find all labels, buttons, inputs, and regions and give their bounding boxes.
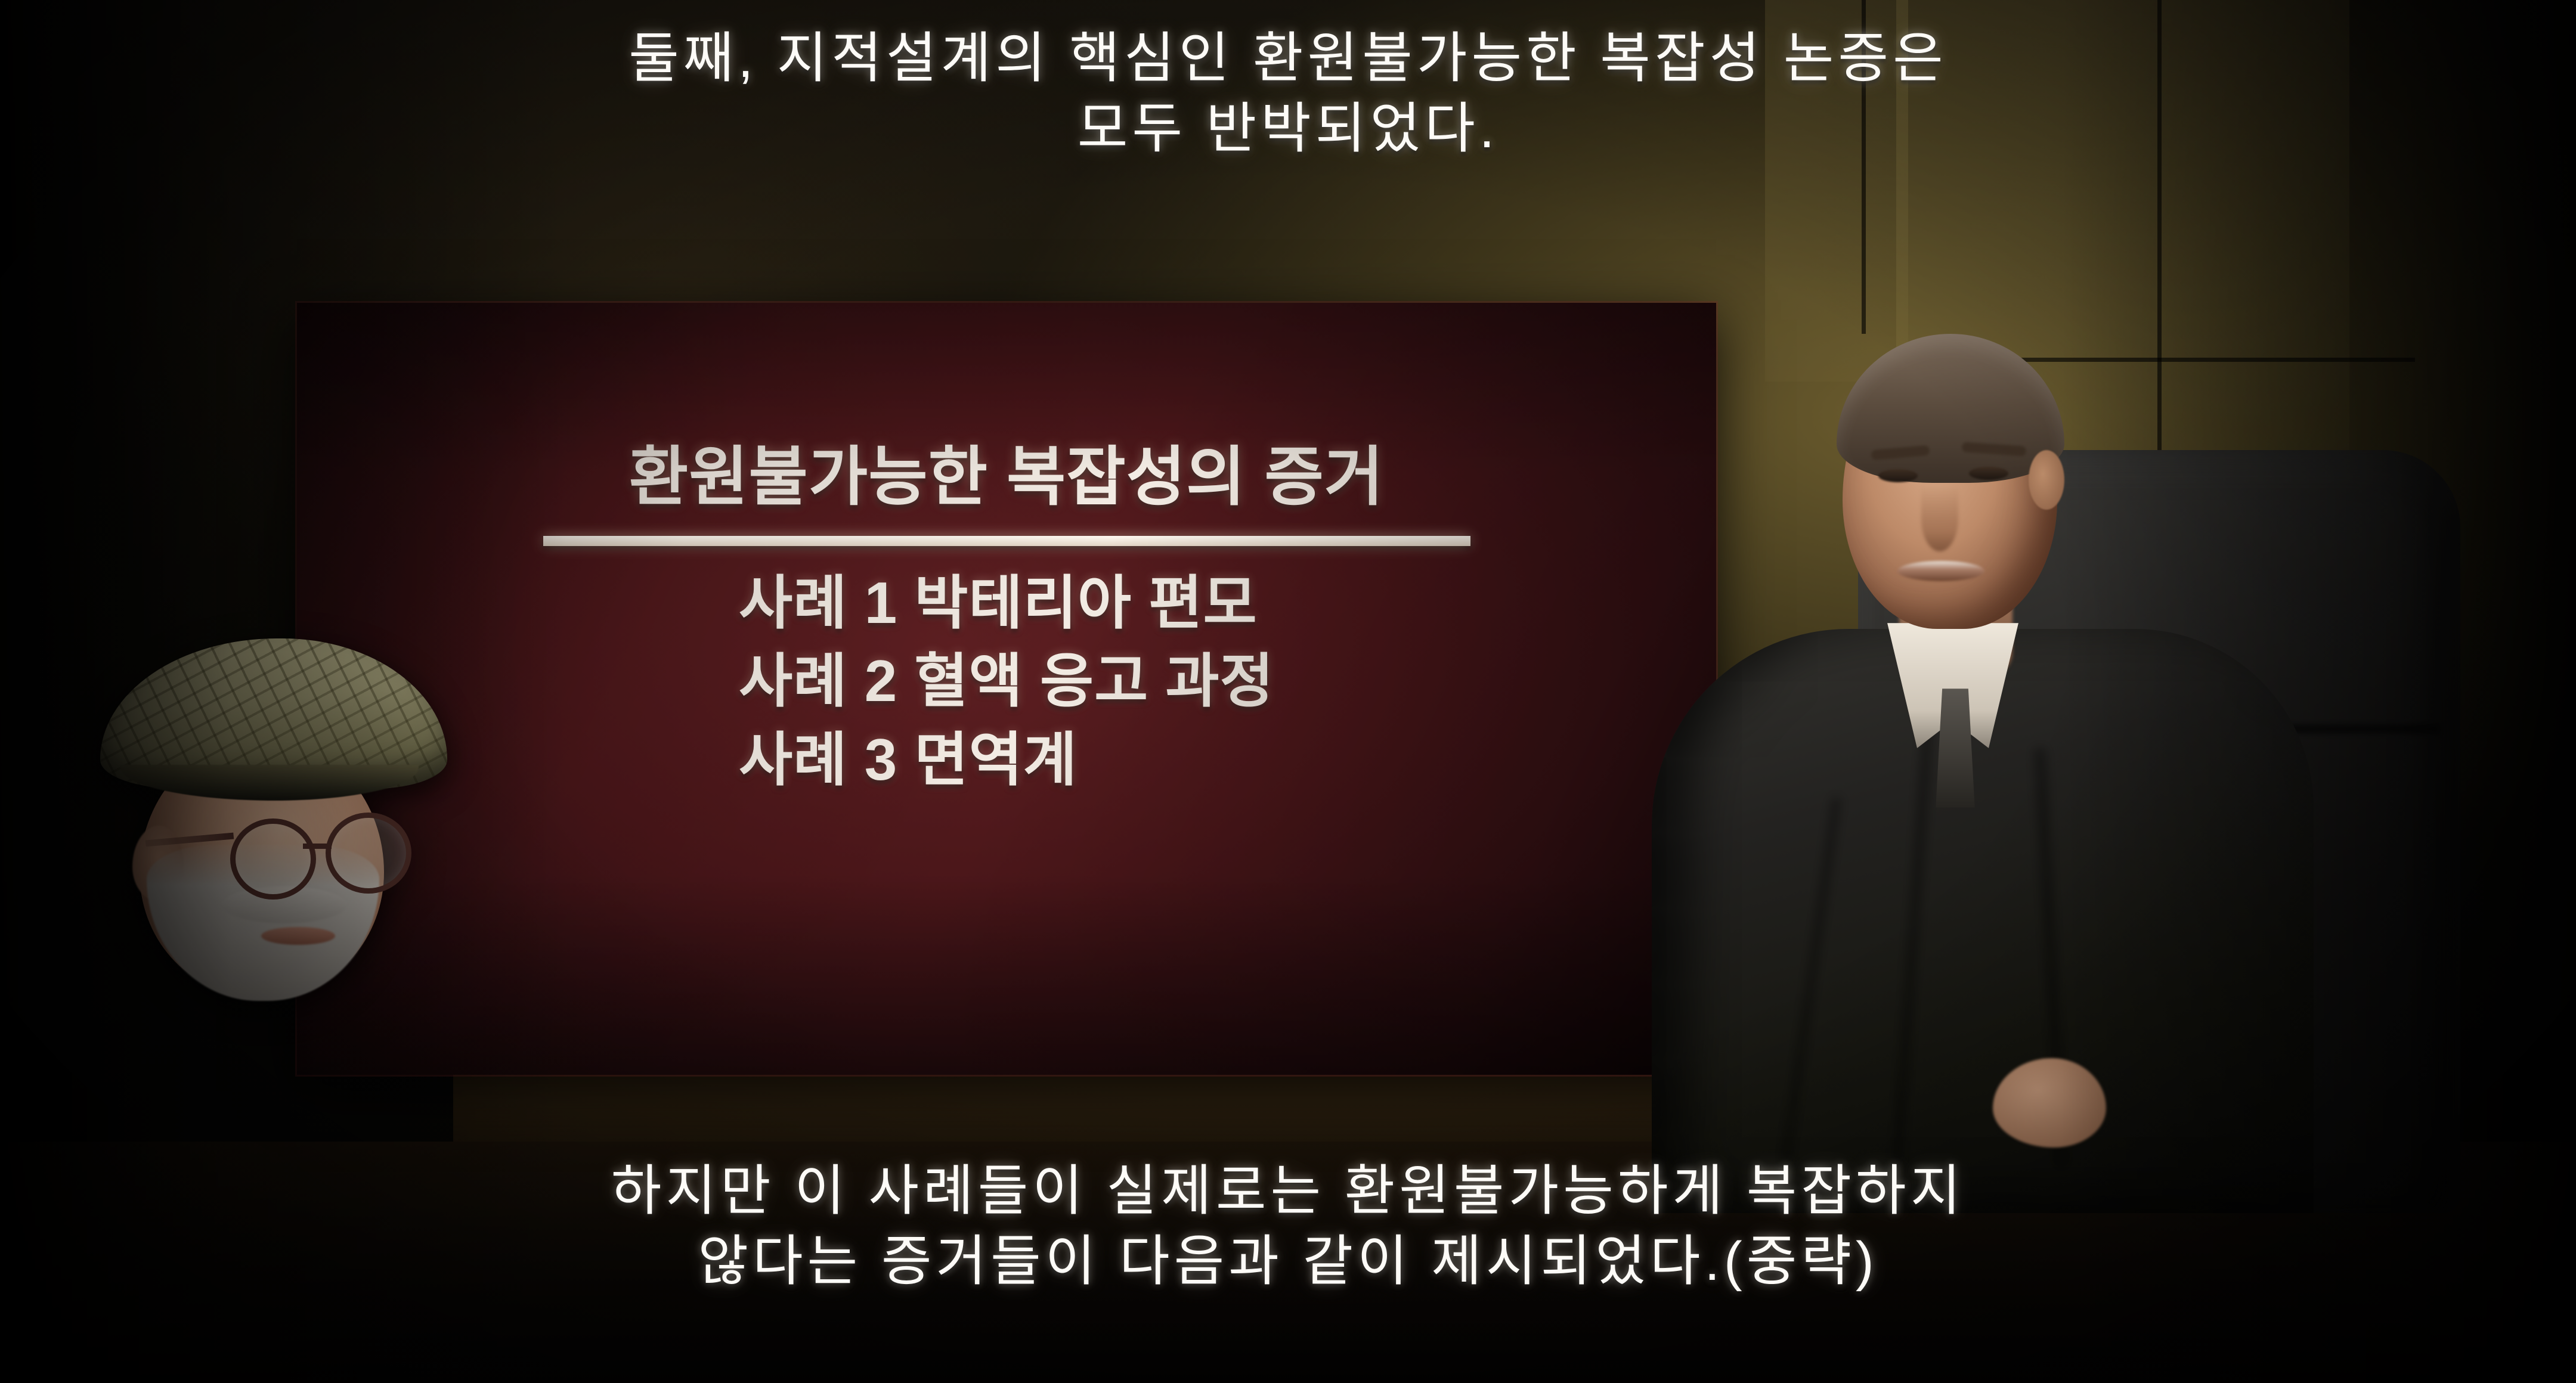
judge-figure xyxy=(1628,271,2475,1213)
list-item: 사례 1 박테리아 편모 xyxy=(739,564,1274,642)
cutout-head-overlay xyxy=(89,617,459,999)
cutout-lip xyxy=(261,927,335,945)
video-frame: 환원불가능한 복잡성의 증거 사례 1 박테리아 편모 사례 2 혈액 응고 과… xyxy=(0,0,2576,1383)
judge-ear xyxy=(2029,450,2064,510)
eyeglass-lens-left xyxy=(230,818,316,900)
judge-mouth xyxy=(1897,561,1984,581)
slide-title: 환원불가능한 복잡성의 증거 xyxy=(297,441,1716,513)
eyeglass-bridge xyxy=(303,844,332,849)
eyeglasses xyxy=(179,809,423,892)
presentation-slide: 환원불가능한 복잡성의 증거 사례 1 박테리아 편모 사례 2 혈액 응고 과… xyxy=(297,303,1716,1075)
judge-hair xyxy=(1837,334,2064,483)
judge-eye-right xyxy=(1969,467,2008,480)
eyeglass-lens-right xyxy=(326,813,411,894)
slide-evidence-list: 사례 1 박테리아 편모 사례 2 혈액 응고 과정 사례 3 면역계 xyxy=(739,564,1274,799)
judge-nose xyxy=(1921,486,1958,551)
slide-content: 환원불가능한 복잡성의 증거 사례 1 박테리아 편모 사례 2 혈액 응고 과… xyxy=(297,441,1716,799)
list-item: 사례 2 혈액 응고 과정 xyxy=(739,642,1274,720)
list-item: 사례 3 면역계 xyxy=(739,721,1274,799)
judge-eye-left xyxy=(1878,469,1918,482)
slide-title-underline xyxy=(543,536,1470,546)
